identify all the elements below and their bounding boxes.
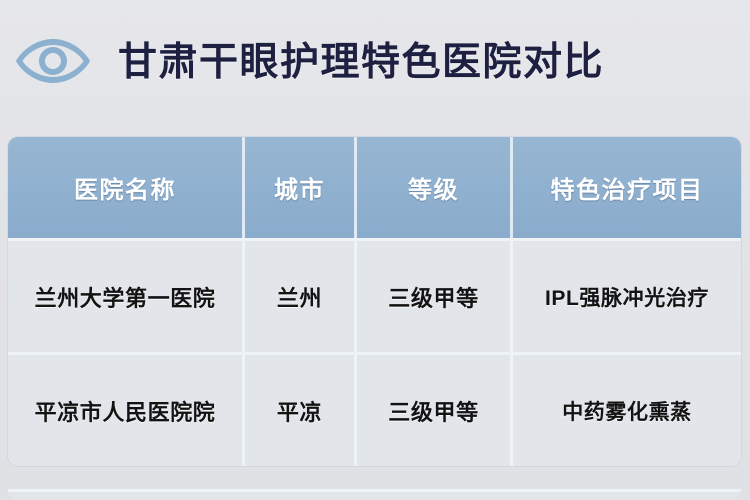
- cell-treatment: IPL强脉冲光治疗: [513, 238, 741, 352]
- table-header-row: 医院名称 城市 等级 特色治疗项目: [8, 137, 741, 238]
- column-header-hospital: 医院名称: [8, 137, 245, 238]
- table-bottom-edge: [8, 489, 741, 500]
- table-row: 兰州大学第一医院 兰州 三级甲等 IPL强脉冲光治疗: [8, 238, 741, 352]
- cell-city: 兰州: [245, 238, 357, 352]
- column-header-city: 城市: [245, 137, 357, 238]
- page-title: 甘肃干眼护理特色医院对比: [118, 43, 604, 82]
- cell-city: 平凉: [245, 352, 357, 466]
- cell-grade: 三级甲等: [357, 238, 513, 352]
- column-header-grade: 等级: [357, 137, 513, 238]
- cell-grade: 三级甲等: [357, 352, 513, 466]
- table-row: 平凉市人民医院院 平凉 三级甲等 中药雾化熏蒸: [8, 352, 741, 466]
- eye-icon: [14, 31, 92, 91]
- cell-hospital: 平凉市人民医院院: [8, 352, 245, 466]
- page-header: 甘肃干眼护理特色医院对比: [0, 0, 750, 128]
- column-header-treatment: 特色治疗项目: [513, 137, 741, 238]
- page-root: 甘肃干眼护理特色医院对比 医院名称 城市 等级 特色治疗项目 兰州大学第一医院 …: [0, 0, 750, 500]
- cell-hospital: 兰州大学第一医院: [8, 238, 245, 352]
- cell-treatment: 中药雾化熏蒸: [513, 352, 741, 466]
- hospital-comparison-table: 医院名称 城市 等级 特色治疗项目 兰州大学第一医院 兰州 三级甲等 IPL强脉…: [8, 137, 741, 466]
